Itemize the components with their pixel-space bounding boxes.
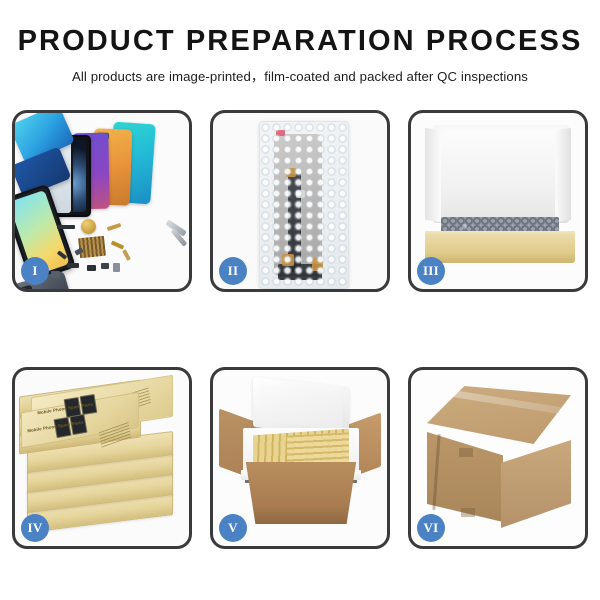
process-step-4: Mobile Phone Spare Parts Mobile Phone Sp…: [12, 367, 192, 549]
step-badge-5: V: [219, 514, 247, 542]
chip-grid-icon: [78, 236, 106, 259]
component-part-icon: [107, 223, 122, 231]
foam-side-left: [425, 128, 441, 222]
component-part-icon: [113, 263, 120, 272]
carton-side-face: [501, 440, 571, 528]
process-step-grid: I II: [12, 110, 588, 549]
kraft-inner-box-icon: [425, 237, 575, 263]
page-title: PRODUCT PREPARATION PROCESS: [0, 26, 600, 57]
step-badge-2: II: [219, 257, 247, 285]
carton-notch: [461, 508, 475, 517]
component-part-icon: [51, 271, 60, 278]
process-step-3: III: [408, 110, 588, 292]
component-part-icon: [87, 265, 96, 271]
shipping-carton-icon: [241, 462, 361, 524]
process-step-6: VI: [408, 367, 588, 549]
step-badge-1: I: [21, 257, 49, 285]
process-step-5: V: [210, 367, 390, 549]
component-part-icon: [67, 263, 79, 268]
step-badge-3: III: [417, 257, 445, 285]
bubble-wrap-bag-icon: [259, 121, 349, 289]
speaker-module-icon: [81, 219, 96, 234]
step-badge-4: IV: [21, 514, 49, 542]
component-part-icon: [122, 249, 131, 261]
component-part-icon: [111, 241, 125, 250]
product-preparation-infographic: PRODUCT PREPARATION PROCESS All products…: [0, 0, 600, 600]
step-badge-6: VI: [417, 514, 445, 542]
component-part-icon: [57, 225, 75, 229]
white-foam-liner-icon: [433, 125, 569, 223]
page-subtitle: All products are image-printed，film-coat…: [0, 66, 600, 85]
process-step-1: I: [12, 110, 192, 292]
header: PRODUCT PREPARATION PROCESS All products…: [0, 0, 600, 85]
bubble-texture: [260, 122, 348, 288]
kraft-box-stack-icon: Mobile Phone Spare Parts Mobile Phone Sp…: [19, 380, 185, 536]
carton-notch: [459, 448, 473, 457]
component-part-icon: [101, 263, 109, 269]
process-step-2: II: [210, 110, 390, 292]
foam-side-right: [555, 128, 571, 222]
